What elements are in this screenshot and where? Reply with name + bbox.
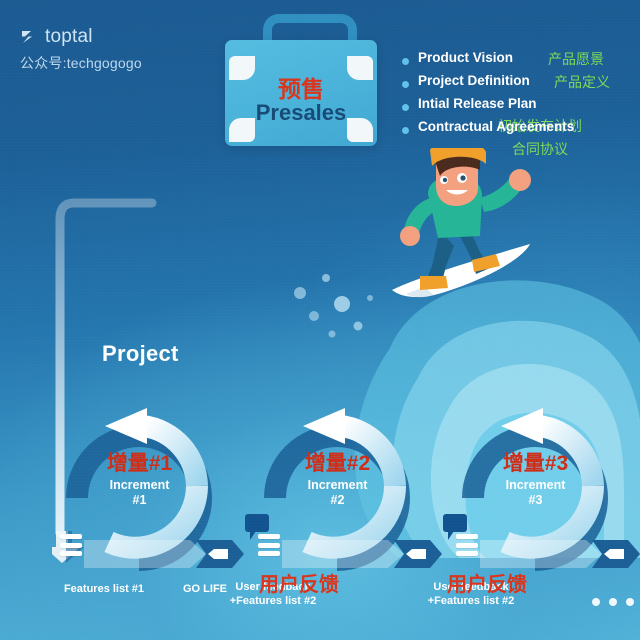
- bullet-dot-icon: [402, 104, 409, 111]
- increment-label-en: Increment #2: [245, 478, 430, 508]
- project-title: Project: [102, 341, 179, 367]
- features-list-icon: [456, 534, 478, 562]
- increment-label-cn: 增量#3: [443, 447, 628, 477]
- ellipsis-dot: [609, 598, 617, 606]
- presales-bullet-list: Product Vision 产品愿景 Project Definition 产…: [402, 50, 640, 142]
- brand-name: toptal: [45, 26, 93, 48]
- surfboard-icon: [392, 244, 530, 297]
- bullet-label-en: Contractual Agreements: [418, 119, 574, 134]
- bullet-label-en: Intial Release Plan: [418, 96, 537, 111]
- increment-label-cn: 增量#1: [47, 447, 232, 477]
- user-feedback-bubble-icon: [443, 514, 467, 532]
- presales-title-cn: 预售: [225, 70, 377, 104]
- node-2-label-cn: 用户反馈: [259, 568, 339, 597]
- ellipsis-indicator: [592, 598, 634, 606]
- brand-row: toptal: [20, 26, 142, 48]
- increment-en-line1: Increment: [506, 478, 566, 492]
- increment-label-en: Increment #3: [443, 478, 628, 508]
- increment-en-line1: Increment: [308, 478, 368, 492]
- brand-block: toptal 公众号:techgogogo: [20, 26, 142, 73]
- node-3-label-cn: 用户反馈: [447, 568, 527, 597]
- bullet-item-product-vision: Product Vision 产品愿景: [402, 50, 640, 73]
- increment-en-line2: #1: [133, 493, 147, 507]
- increment-en-line2: #2: [331, 493, 345, 507]
- presales-title-en: Presales: [225, 100, 377, 126]
- bullet-label-en: Product Vision: [418, 50, 513, 65]
- bullet-label-cn: 产品定义: [554, 72, 610, 92]
- brand-wechat: 公众号:techgogogo: [20, 53, 142, 73]
- features-list-icon: [258, 534, 280, 562]
- bullet-dot-icon: [402, 81, 409, 88]
- features-list-1-label: Features list #1: [30, 582, 178, 596]
- increment-en-line2: #3: [529, 493, 543, 507]
- surfer-character-icon: [380, 148, 550, 308]
- bullet-dot-icon: [402, 58, 409, 65]
- presales-briefcase: 预售 Presales: [225, 28, 377, 146]
- bullet-dot-icon: [402, 127, 409, 134]
- toptal-chevron-logo-icon: [20, 27, 40, 47]
- bullet-label-cn: 产品愿景: [548, 49, 604, 69]
- increment-label-en: Increment #1: [47, 478, 232, 508]
- user-feedback-bubble-icon: [245, 514, 269, 532]
- bullet-item-contractual-agreements: Contractual Agreements 合同协议: [402, 119, 640, 142]
- infographic-canvas: toptal 公众号:techgogogo: [0, 0, 640, 640]
- briefcase-body: 预售 Presales: [225, 40, 377, 146]
- bullet-item-initial-release-plan: Intial Release Plan 初始发布计划: [402, 96, 640, 119]
- ellipsis-dot: [592, 598, 600, 606]
- bullet-label-en: Project Definition: [418, 73, 530, 88]
- bullet-item-project-definition: Project Definition 产品定义: [402, 73, 640, 96]
- ellipsis-dot: [626, 598, 634, 606]
- bullet-label-cn: 合同协议: [512, 139, 568, 159]
- increment-label-cn: 增量#2: [245, 447, 430, 477]
- increment-en-line1: Increment: [110, 478, 170, 492]
- features-list-icon: [60, 534, 82, 562]
